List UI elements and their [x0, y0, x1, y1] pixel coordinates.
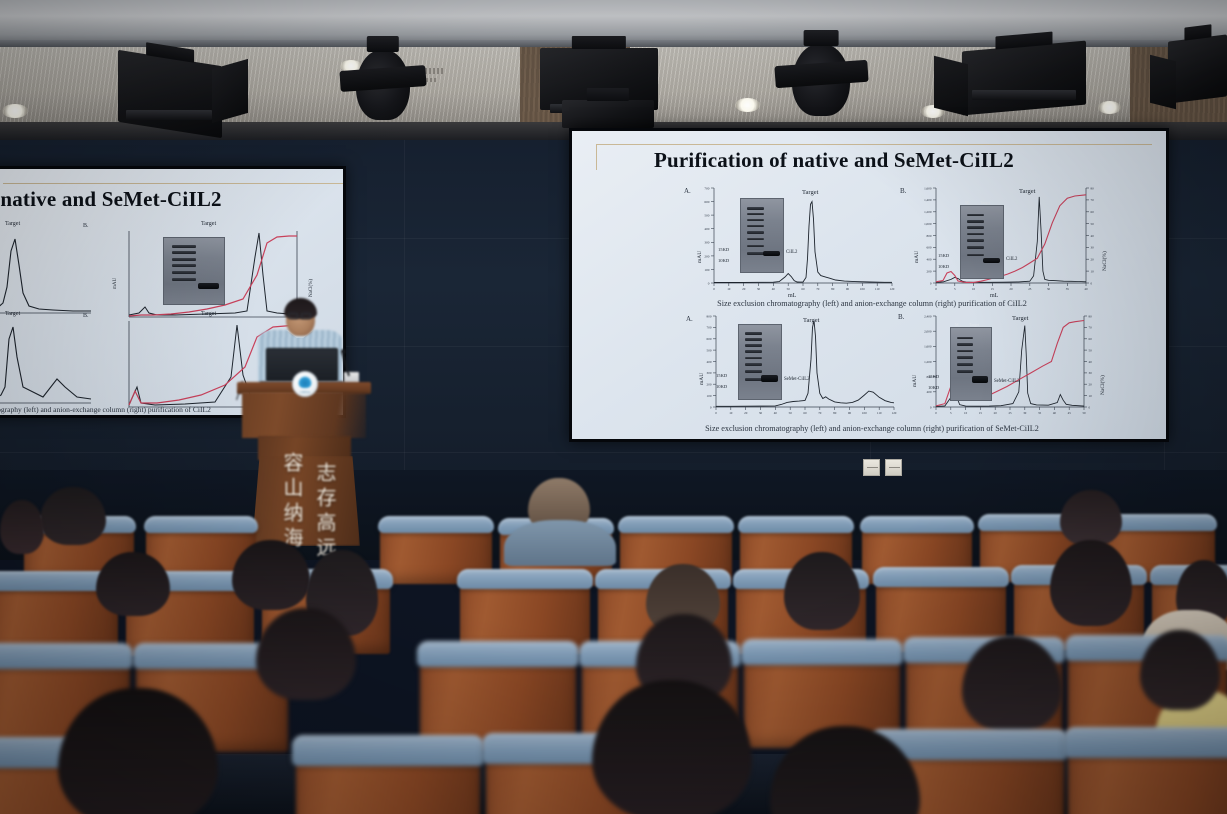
svg-text:600: 600	[707, 337, 712, 341]
panel-a-sds-gel	[740, 198, 784, 273]
chart-panel-a: 0100 200300 400500 600700	[692, 185, 897, 301]
svg-text:200: 200	[927, 269, 932, 273]
panel-b-peak-label: Target	[1019, 188, 1035, 195]
svg-text:400: 400	[927, 258, 932, 262]
svg-text:200: 200	[704, 254, 709, 258]
panel-a-peak-label: Target	[802, 189, 818, 196]
attendee-shoulders	[504, 520, 616, 566]
panel-a2-sds-gel	[738, 324, 782, 400]
svg-text:10: 10	[1089, 394, 1093, 398]
svg-text:40: 40	[1089, 360, 1093, 364]
podium-calligraphy-left: 容山纳海	[277, 452, 306, 552]
panel-b2-y-label: mAU	[912, 375, 918, 387]
svg-text:2,000: 2,000	[924, 330, 932, 335]
svg-text:10: 10	[729, 411, 733, 415]
stage-light-spot	[792, 44, 850, 116]
svg-text:0: 0	[1089, 405, 1091, 409]
svg-text:70: 70	[1091, 198, 1095, 202]
emblem-label: CHINA	[293, 390, 317, 394]
stage-light-body	[562, 100, 654, 128]
svg-text:1,200: 1,200	[924, 360, 932, 365]
svg-text:800: 800	[927, 234, 932, 238]
svg-text:35: 35	[1066, 287, 1070, 291]
panel-b2-kd-lower: 10KD	[928, 385, 939, 390]
svg-text:30: 30	[1023, 411, 1027, 415]
svg-text:80: 80	[833, 411, 837, 415]
svg-text:110: 110	[875, 287, 880, 291]
panel-b-letter: B.	[900, 187, 906, 195]
panel-b-kd-upper: 15KD	[938, 253, 949, 258]
svg-text:5: 5	[950, 411, 952, 415]
svg-text:70: 70	[1089, 326, 1093, 330]
slide-title-rule	[596, 144, 1152, 145]
svg-text:700: 700	[704, 186, 709, 190]
main-projection-screen[interactable]: Purification of native and SeMet-CiIL2 A…	[569, 128, 1169, 442]
svg-text:0: 0	[930, 405, 932, 409]
panel-a-band-label: CiIL2	[786, 250, 797, 255]
speaker-glasses-right	[301, 313, 311, 319]
svg-text:40: 40	[774, 411, 778, 415]
svg-text:70: 70	[818, 411, 822, 415]
svg-text:15: 15	[979, 411, 983, 415]
svg-text:200: 200	[707, 383, 712, 387]
svg-text:120: 120	[890, 287, 895, 291]
wall-plate	[863, 459, 880, 476]
wall-seam	[0, 452, 1227, 453]
panel-b-sds-gel	[960, 205, 1004, 279]
attendee-head	[1060, 490, 1122, 546]
svg-text:50: 50	[1089, 348, 1093, 352]
stage-light-barndoor	[1168, 34, 1227, 103]
main-slide: Purification of native and SeMet-CiIL2 A…	[572, 131, 1166, 439]
svg-text:60: 60	[801, 287, 805, 291]
svg-text:30: 30	[1089, 371, 1093, 375]
panel-b2-sds-gel	[950, 327, 992, 401]
svg-text:400: 400	[707, 360, 712, 364]
left-slide-panel-b-letter: B.	[83, 223, 89, 229]
svg-text:100: 100	[704, 268, 709, 272]
emblem-graphic	[298, 376, 311, 388]
panel-b-lane-marker-label: M	[965, 200, 969, 205]
svg-text:110: 110	[877, 411, 882, 415]
panel-a2-band-label: SeMet-CiIL2	[784, 377, 810, 382]
svg-text:0: 0	[713, 287, 715, 291]
attendee-head	[1140, 630, 1220, 710]
chart-panel-b2: 0400 8001,200 1,6002,000 2,400 010	[906, 313, 1111, 425]
downlight	[1098, 101, 1121, 114]
stage-light-lens	[972, 90, 1076, 100]
svg-text:60: 60	[1089, 337, 1093, 341]
svg-text:40: 40	[1084, 287, 1088, 291]
attendee-head	[40, 487, 106, 545]
seat[interactable]	[1068, 738, 1227, 814]
svg-text:100: 100	[707, 394, 712, 398]
svg-text:20: 20	[1089, 383, 1093, 387]
panel-a-kd-lower: 10KD	[718, 258, 729, 263]
panel-a-lane-marker-label: M	[745, 193, 749, 198]
left-slide-gel	[163, 237, 225, 305]
downlight	[2, 104, 28, 118]
stage-light-flap	[1150, 55, 1176, 109]
left-slide-title: of native and SeMet-CiIL2	[0, 187, 222, 212]
stage-light-flap	[934, 56, 968, 116]
stage-light-flap	[212, 59, 248, 123]
svg-text:20: 20	[742, 287, 746, 291]
chart-panel-b: 0200 400600 8001,000 1,2001,400 1,600	[908, 185, 1113, 301]
svg-text:0: 0	[935, 287, 937, 291]
left-slide-peak-label-b2: Target	[201, 311, 216, 317]
svg-text:0: 0	[930, 281, 932, 285]
svg-text:45: 45	[1068, 411, 1072, 415]
panel-b2-kd-upper: 15KD	[928, 374, 939, 379]
attendee-head	[256, 608, 356, 700]
svg-text:10: 10	[972, 287, 976, 291]
panel-b-kd-lower: 10KD	[938, 264, 949, 269]
wall-plate	[885, 459, 902, 476]
svg-text:25: 25	[1008, 411, 1012, 415]
panel-a2-letter: A.	[686, 315, 693, 323]
left-slide-panel-b2-letter: B.	[83, 313, 89, 319]
panel-a2-lane-target-label: Target	[758, 319, 768, 324]
panel-b2-lane-target-label: Target	[969, 322, 979, 327]
left-slide-chart-a2	[0, 317, 93, 415]
svg-text:0: 0	[935, 411, 937, 415]
slide-title-tick	[596, 144, 597, 170]
svg-text:60: 60	[803, 411, 807, 415]
svg-text:50: 50	[1082, 411, 1086, 415]
attendee-head	[962, 636, 1062, 732]
svg-text:1,400: 1,400	[924, 198, 932, 203]
svg-text:500: 500	[707, 348, 712, 352]
stage-light-lens	[126, 110, 212, 120]
left-slide-y2-axis-label: NaCl(%)	[309, 279, 314, 297]
svg-text:40: 40	[772, 287, 776, 291]
svg-text:10: 10	[1091, 269, 1095, 273]
panel-a2-kd-upper: 15KD	[716, 373, 727, 378]
panel-b2-lane-marker-label: M	[955, 322, 959, 327]
svg-text:30: 30	[757, 287, 761, 291]
svg-text:0: 0	[715, 411, 717, 415]
podium-calligraphy-right: 志存高远	[310, 462, 339, 562]
svg-text:0: 0	[708, 281, 710, 285]
svg-text:0: 0	[710, 405, 712, 409]
panel-a2-peak-label: Target	[803, 317, 819, 324]
left-slide-peak-label-2: Target	[5, 311, 20, 317]
svg-text:35: 35	[1038, 411, 1042, 415]
panel-b-lane-target-label: Target	[980, 200, 990, 205]
left-slide-y-axis-label: mAU	[113, 278, 118, 289]
seat[interactable]	[296, 746, 480, 814]
attendee-head	[1050, 540, 1132, 626]
svg-text:30: 30	[1047, 287, 1051, 291]
podium-microphone-head	[341, 349, 346, 354]
svg-text:80: 80	[831, 287, 835, 291]
svg-text:90: 90	[846, 287, 850, 291]
panel-b-y-label: mAU	[914, 251, 920, 263]
conference-hall-photo: of native and SeMet-CiIL2 Target	[0, 0, 1227, 814]
svg-text:500: 500	[704, 214, 709, 218]
attendee-head	[0, 500, 44, 554]
podium-institution-emblem: CHINA	[292, 371, 318, 397]
svg-text:10: 10	[727, 287, 731, 291]
svg-text:40: 40	[1053, 411, 1057, 415]
left-slide-title-rule	[3, 183, 343, 184]
attendee-head	[784, 552, 860, 630]
speaker-glasses-left	[288, 313, 298, 319]
stage-light-barndoor	[962, 41, 1086, 116]
svg-text:30: 30	[1091, 246, 1095, 250]
stage-light-spot	[356, 50, 410, 120]
svg-text:1,600: 1,600	[924, 345, 932, 350]
panel-a2-lane-marker-label: M	[743, 319, 747, 324]
svg-text:90: 90	[848, 411, 852, 415]
chart-panel-a2: 0100 200300 400500 600700 800	[694, 313, 899, 425]
svg-text:800: 800	[707, 314, 712, 318]
panel-b2-peak-label: Target	[1012, 315, 1028, 322]
svg-text:120: 120	[892, 411, 897, 415]
panel-a-letter: A.	[684, 187, 691, 195]
panel-a-lane-target-label: Target	[760, 193, 770, 198]
panel-b-y2-label: NaCl(%)	[1102, 251, 1108, 271]
slide-title: Purification of native and SeMet-CiIL2	[654, 148, 1014, 173]
svg-text:20: 20	[744, 411, 748, 415]
svg-text:1,200: 1,200	[924, 210, 932, 215]
svg-text:1,600: 1,600	[924, 186, 932, 191]
panel-b-band-label: CiIL2	[1006, 257, 1017, 262]
podium-base	[252, 456, 360, 546]
attendee-head	[96, 552, 170, 616]
svg-text:400: 400	[927, 390, 932, 394]
svg-text:700: 700	[707, 326, 712, 330]
svg-text:0: 0	[1091, 281, 1093, 285]
left-slide-peak-label: Target	[5, 221, 20, 227]
svg-text:5: 5	[954, 287, 956, 291]
svg-text:25: 25	[1028, 287, 1032, 291]
svg-text:20: 20	[1009, 287, 1013, 291]
left-slide-caption: Size exclusion chromatography (left) and…	[0, 405, 269, 414]
svg-text:300: 300	[707, 371, 712, 375]
svg-text:20: 20	[994, 411, 998, 415]
svg-text:600: 600	[704, 200, 709, 204]
svg-text:30: 30	[759, 411, 763, 415]
panel-b2-band-label: SeMet-CiIL2	[994, 379, 1020, 384]
svg-text:100: 100	[862, 411, 867, 415]
panel-a-y-label: mAU	[697, 251, 703, 263]
panel-b2-y2-label: NaCl(%)	[1100, 375, 1106, 395]
svg-text:100: 100	[860, 287, 865, 291]
svg-text:2,400: 2,400	[924, 314, 932, 319]
svg-text:600: 600	[927, 246, 932, 250]
attendee-head	[232, 540, 310, 610]
svg-text:50: 50	[1091, 222, 1095, 226]
panel-b2-letter: B.	[898, 313, 904, 321]
left-slide-peak-label-b: Target	[201, 221, 216, 227]
panel-a2-kd-lower: 10KD	[716, 384, 727, 389]
svg-text:400: 400	[704, 227, 709, 231]
svg-text:1,000: 1,000	[924, 222, 932, 227]
panel-a2-y-label: mAU	[699, 373, 705, 385]
downlight	[735, 98, 760, 112]
panel-a-kd-upper: 15KD	[718, 247, 729, 252]
slide-caption-1: Size exclusion chromatography (left) and…	[572, 299, 1166, 308]
svg-text:80: 80	[1091, 186, 1095, 190]
svg-text:50: 50	[789, 411, 793, 415]
svg-text:300: 300	[704, 241, 709, 245]
svg-text:40: 40	[1091, 234, 1095, 238]
slide-caption-2: Size exclusion chromatography (left) and…	[682, 424, 1062, 433]
svg-text:20: 20	[1091, 258, 1095, 262]
svg-text:80: 80	[1089, 314, 1093, 318]
svg-text:50: 50	[787, 287, 791, 291]
podium-front-panel	[242, 392, 366, 438]
svg-text:10: 10	[964, 411, 968, 415]
svg-text:60: 60	[1091, 210, 1095, 214]
svg-text:15: 15	[991, 287, 995, 291]
svg-text:70: 70	[816, 287, 820, 291]
